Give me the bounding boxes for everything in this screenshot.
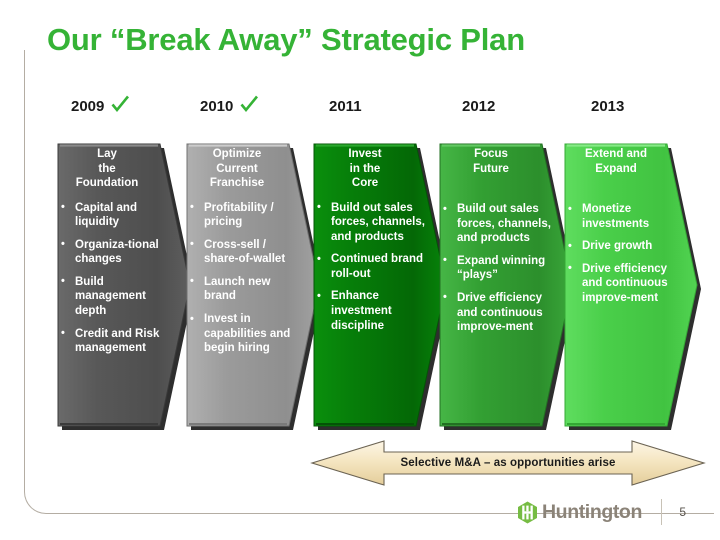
huntington-wordmark: Huntington [542,501,642,523]
heading-line: Franchise [193,176,281,191]
ma-banner[interactable]: Selective M&A – as opportunities arise [310,437,706,489]
list-item: Credit and Risk management [58,327,172,356]
heading-line: Lay [64,147,150,162]
list-item: Drive efficiency and continuous improve-… [565,262,683,306]
phase-chevron-2009[interactable]: Lay the Foundation Capital and liquidity… [52,138,194,432]
slide-canvas: Our “Break Away” Strategic Plan 2009 201… [0,0,720,540]
list-item: Build out sales forces, channels, and pr… [314,201,432,245]
heading-line: in the [320,162,410,177]
phase-heading: Invest in the Core [314,147,432,191]
heading-line: Expand [571,162,661,177]
phase-heading: Extend and Expand [565,147,683,176]
phase-bullet-list: Build out sales forces, channels, and pr… [440,202,558,335]
footer: Huntington 5 [517,497,686,527]
list-item: Expand winning “plays” [440,254,558,283]
phase-bullet-list: Monetize investments Drive growth Drive … [565,202,683,306]
list-item: Profitability / pricing [187,201,303,230]
phase-chevron-2012[interactable]: Focus Future Build out sales forces, cha… [434,138,576,432]
heading-line: Extend and [571,147,661,162]
heading-line: Future [446,162,536,177]
list-item: Capital and liquidity [58,201,172,230]
heading-line: the [64,162,150,177]
list-item: Build management depth [58,275,172,319]
phase-heading: Lay the Foundation [58,147,172,191]
ma-banner-label: Selective M&A – as opportunities arise [310,437,706,489]
list-item: Cross-sell / share-of-wallet [187,238,303,267]
heading-line: Focus [446,147,536,162]
list-item: Organiza-tional changes [58,238,172,267]
list-item: Continued brand roll-out [314,252,432,281]
list-item: Invest in capabilities and begin hiring [187,312,303,356]
footer-divider [661,499,662,525]
heading-line: Optimize [193,147,281,162]
heading-line: Foundation [64,176,150,191]
phase-bullet-list: Capital and liquidity Organiza-tional ch… [58,201,172,356]
list-item: Drive growth [565,239,683,254]
phase-heading: Focus Future [440,147,558,176]
phase-chevron-2013[interactable]: Extend and Expand Monetize investments D… [559,138,701,432]
phase-chevron-2010[interactable]: Optimize Current Franchise Profitability… [181,138,323,432]
list-item: Drive efficiency and continuous improve-… [440,291,558,335]
heading-line: Invest [320,147,410,162]
phase-heading: Optimize Current Franchise [187,147,303,191]
phase-chevron-2011[interactable]: Invest in the Core Build out sales force… [308,138,450,432]
list-item: Monetize investments [565,202,683,231]
list-item: Build out sales forces, channels, and pr… [440,202,558,246]
huntington-logo-icon [517,501,538,524]
list-item: Enhance investment discipline [314,289,432,333]
phase-bullet-list: Profitability / pricing Cross-sell / sha… [187,201,303,356]
phase-bullet-list: Build out sales forces, channels, and pr… [314,201,432,334]
heading-line: Core [320,176,410,191]
heading-line: Current [193,162,281,177]
list-item: Launch new brand [187,275,303,304]
page-number: 5 [679,504,686,520]
